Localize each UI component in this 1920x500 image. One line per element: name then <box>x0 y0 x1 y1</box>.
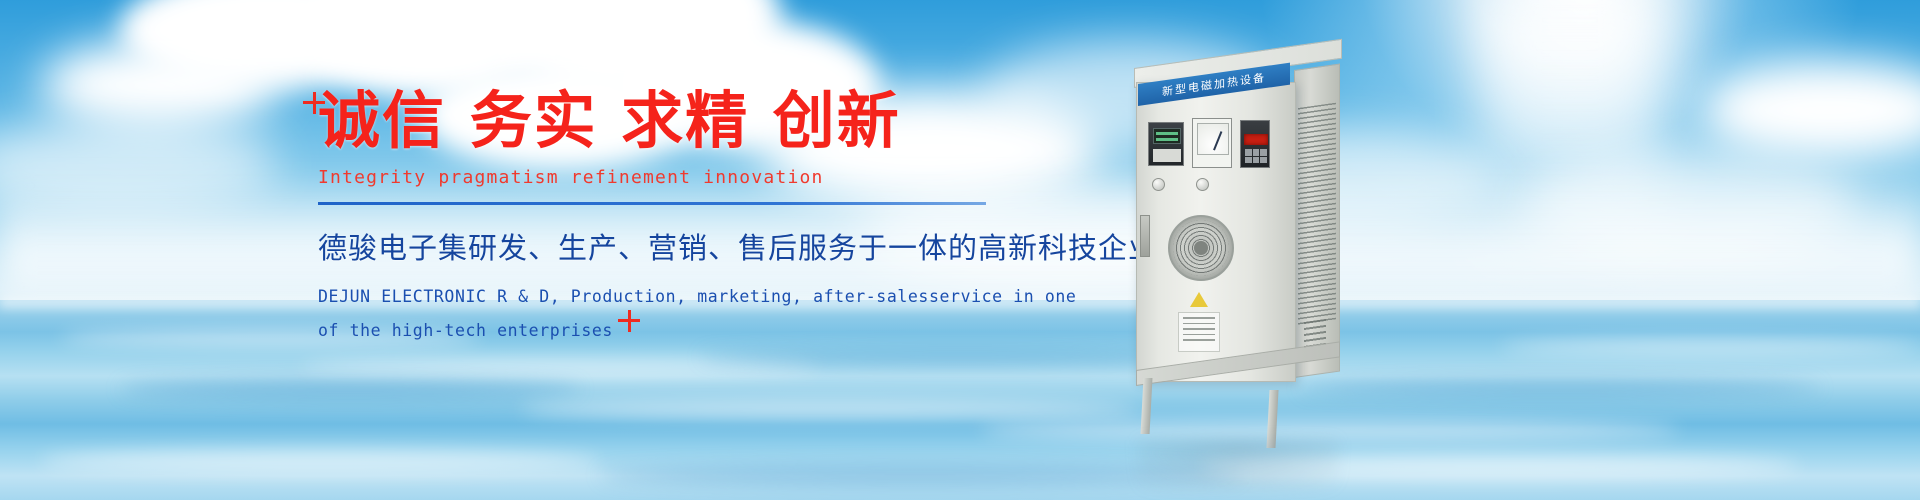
subtitle-chinese: 德骏电子集研发、生产、营销、售后服务于一体的高新科技企业 <box>318 225 1078 267</box>
subtitle-english: DEJUN ELECTRONIC R & D, Production, mark… <box>318 280 1078 348</box>
analog-gauge-panel <box>1192 118 1232 168</box>
warning-triangle-icon <box>1190 292 1208 307</box>
subtitle-english-line-1: DEJUN ELECTRONIC R & D, Production, mark… <box>318 280 1078 314</box>
wave-highlight <box>1500 340 1920 354</box>
headline-chinese: 诚信 务实 求精 创新 <box>318 88 1078 153</box>
wave-highlight <box>300 360 820 374</box>
keypad-buttons <box>1245 149 1267 163</box>
wave-highlight <box>40 450 600 472</box>
subtitle-english-line-2: of the high-tech enterprises <box>318 314 1078 348</box>
wave-highlight <box>980 420 1680 440</box>
copy-block: 诚信 务实 求精 创新 Integrity pragmatism refinem… <box>318 88 1078 348</box>
machine-reflection <box>1138 440 1338 490</box>
keypad-red-display-icon <box>1244 134 1268 145</box>
headline-english: Integrity pragmatism refinement innovati… <box>318 167 1078 188</box>
fan-hub <box>1194 241 1208 255</box>
keypad-panel <box>1240 120 1270 168</box>
gauge-needle-icon <box>1213 131 1222 150</box>
product-image-heating-equipment: 新型电磁加热设备 <box>1118 60 1378 420</box>
digital-controller-panel <box>1148 122 1184 166</box>
machine-side-vents <box>1298 103 1336 326</box>
controller-keys <box>1153 149 1181 162</box>
promo-banner: 诚信 务实 求精 创新 Integrity pragmatism refinem… <box>0 0 1920 500</box>
wave-highlight <box>520 400 1140 418</box>
gauge-dial-icon <box>1197 123 1229 155</box>
wave-shadow <box>120 380 580 398</box>
wave-shadow <box>1300 380 1820 396</box>
divider-rule <box>318 202 986 205</box>
control-knob-icon <box>1152 178 1165 191</box>
controller-lcd-icon <box>1153 128 1181 144</box>
cooling-fan-icon <box>1168 215 1234 281</box>
cloud <box>40 40 280 130</box>
control-knob-icon <box>1196 178 1209 191</box>
machine-handle <box>1140 215 1150 257</box>
machine-spec-label <box>1178 312 1220 352</box>
